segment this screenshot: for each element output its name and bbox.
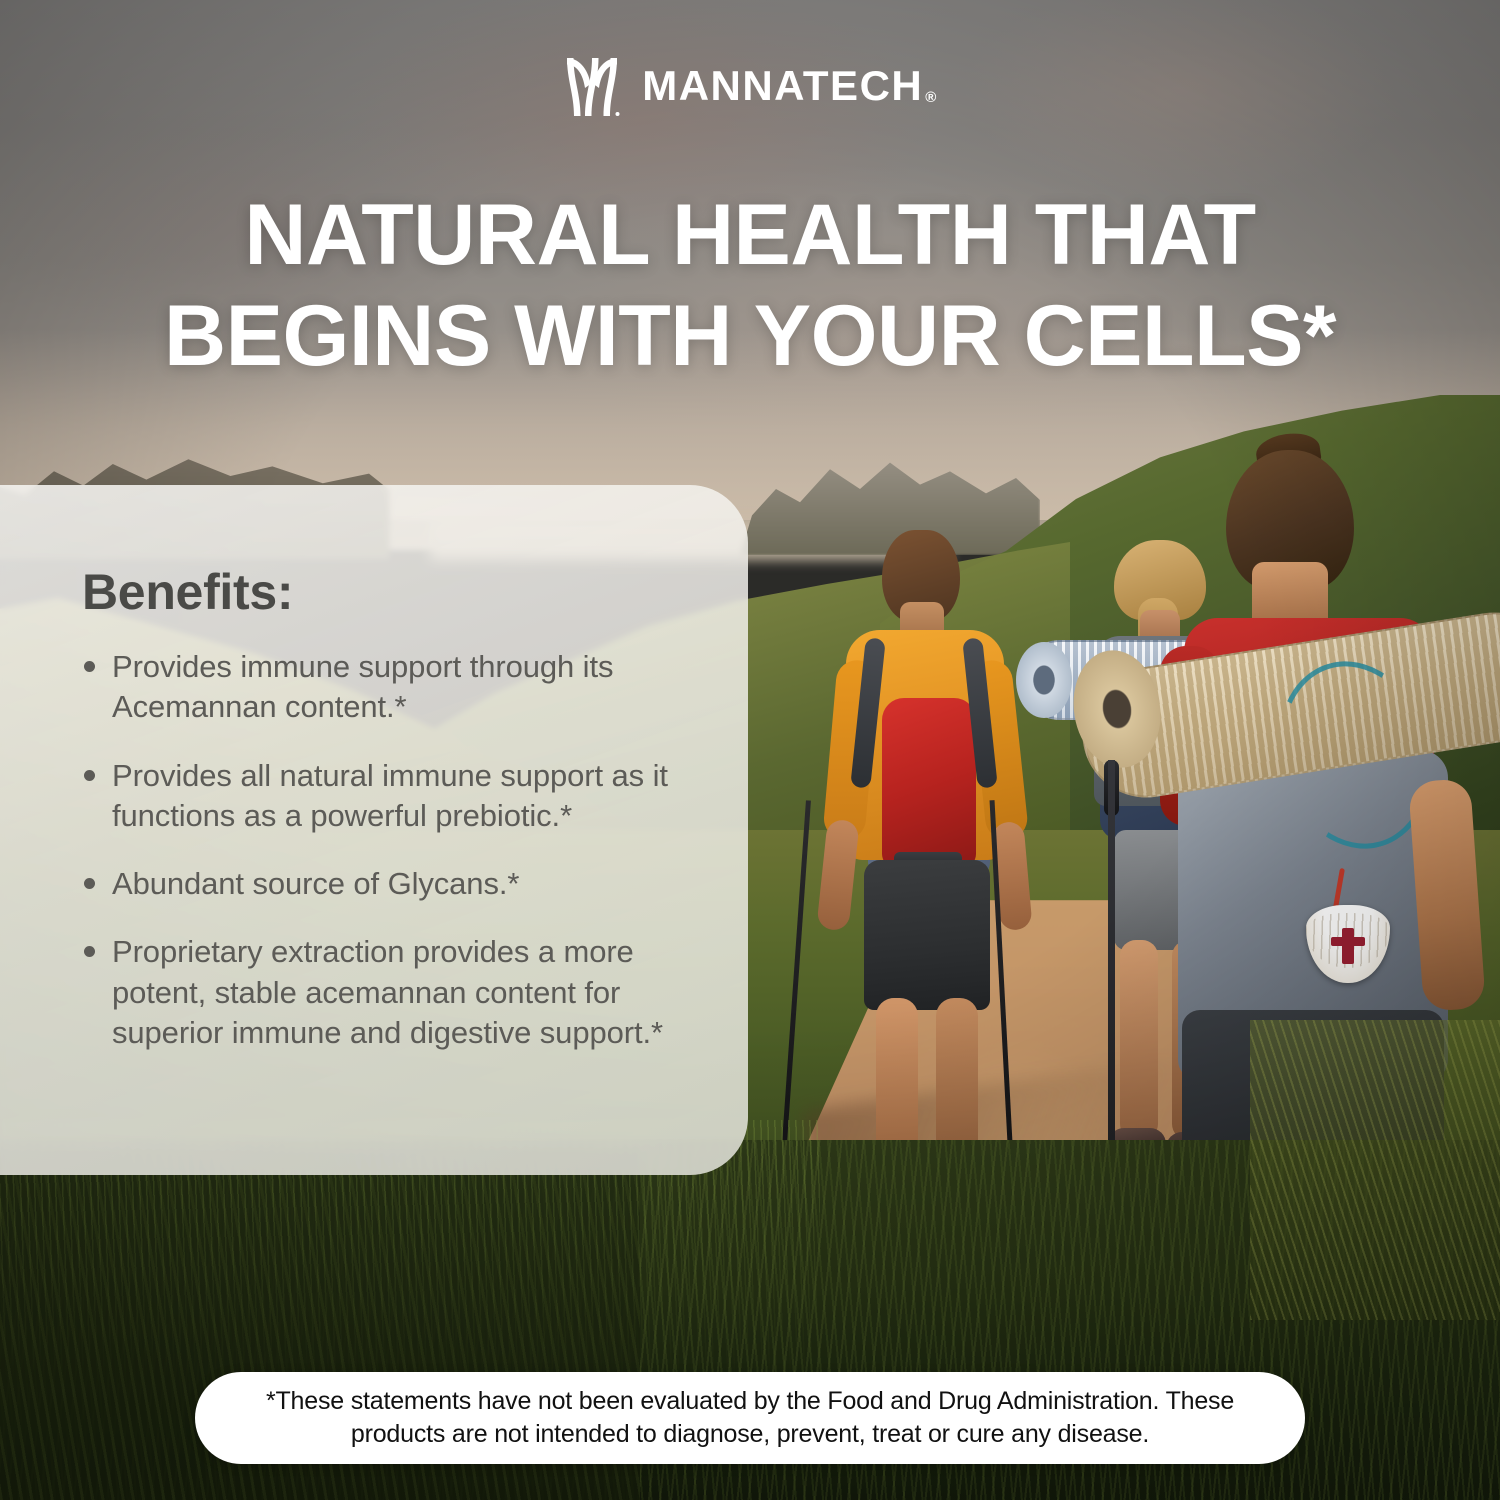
list-item-label: Abundant source of Glycans.* xyxy=(112,866,519,901)
list-item: Abundant source of Glycans.* xyxy=(82,864,700,904)
bullet-icon xyxy=(84,770,95,781)
list-item: Provides all natural immune support as i… xyxy=(82,756,700,837)
page-title: NATURAL HEALTH THAT BEGINS WITH YOUR CEL… xyxy=(0,185,1500,388)
list-item-label: Proprietary extraction provides a more p… xyxy=(112,934,663,1050)
brand-logo: MANNATECH® xyxy=(0,54,1500,118)
disclaimer-line-1: *These statements have not been evaluate… xyxy=(266,1387,1159,1415)
disclaimer-text: *These statements have not been evaluate… xyxy=(195,1385,1305,1451)
fda-disclaimer: *These statements have not been evaluate… xyxy=(195,1372,1305,1464)
headline-line-1: NATURAL HEALTH THAT xyxy=(52,185,1448,286)
list-item-label: Provides all natural immune support as i… xyxy=(112,758,668,833)
bullet-icon xyxy=(84,946,95,957)
bullet-icon xyxy=(84,661,95,672)
list-item-label: Provides immune support through its Acem… xyxy=(112,649,613,724)
mannatech-m-logo-icon xyxy=(564,54,620,118)
benefits-panel: Benefits: Provides immune support throug… xyxy=(0,485,748,1175)
headline-line-2: BEGINS WITH YOUR CELLS* xyxy=(52,286,1448,387)
benefits-list: Provides immune support through its Acem… xyxy=(82,647,700,1053)
list-item: Proprietary extraction provides a more p… xyxy=(82,932,700,1053)
list-item: Provides immune support through its Acem… xyxy=(82,647,700,728)
promo-image-canvas: MANNATECH® NATURAL HEALTH THAT BEGINS WI… xyxy=(0,0,1500,1500)
registered-trademark-icon: ® xyxy=(925,89,938,106)
brand-name-text: MANNATECH xyxy=(642,62,923,109)
bullet-icon xyxy=(84,878,95,889)
benefits-title: Benefits: xyxy=(82,563,700,621)
brand-name: MANNATECH® xyxy=(642,65,936,107)
